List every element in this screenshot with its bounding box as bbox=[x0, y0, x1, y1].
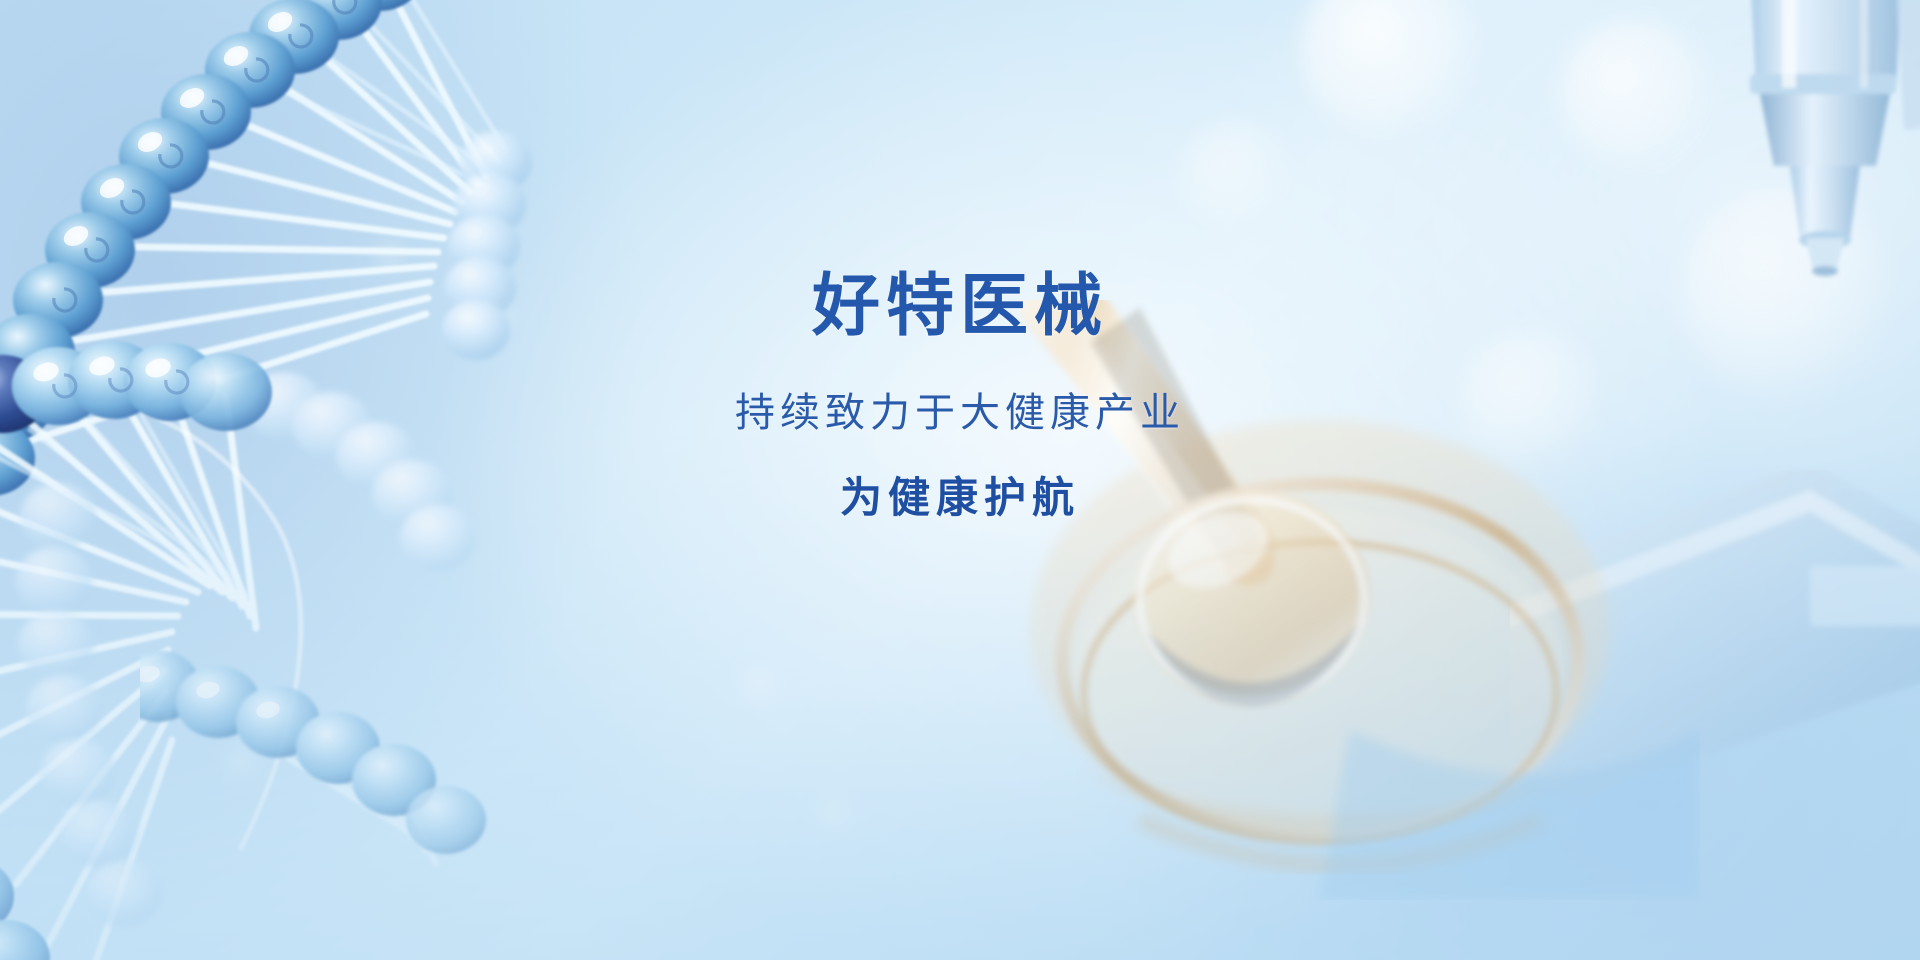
hero-text-block: 好特医械 持续致力于大健康产业 为健康护航 bbox=[0, 270, 1920, 521]
hero-banner: 好特医械 持续致力于大健康产业 为健康护航 bbox=[0, 0, 1920, 960]
brand-title: 好特医械 bbox=[0, 270, 1920, 345]
brand-tagline: 为健康护航 bbox=[0, 475, 1920, 521]
brand-subtitle: 持续致力于大健康产业 bbox=[0, 391, 1920, 435]
